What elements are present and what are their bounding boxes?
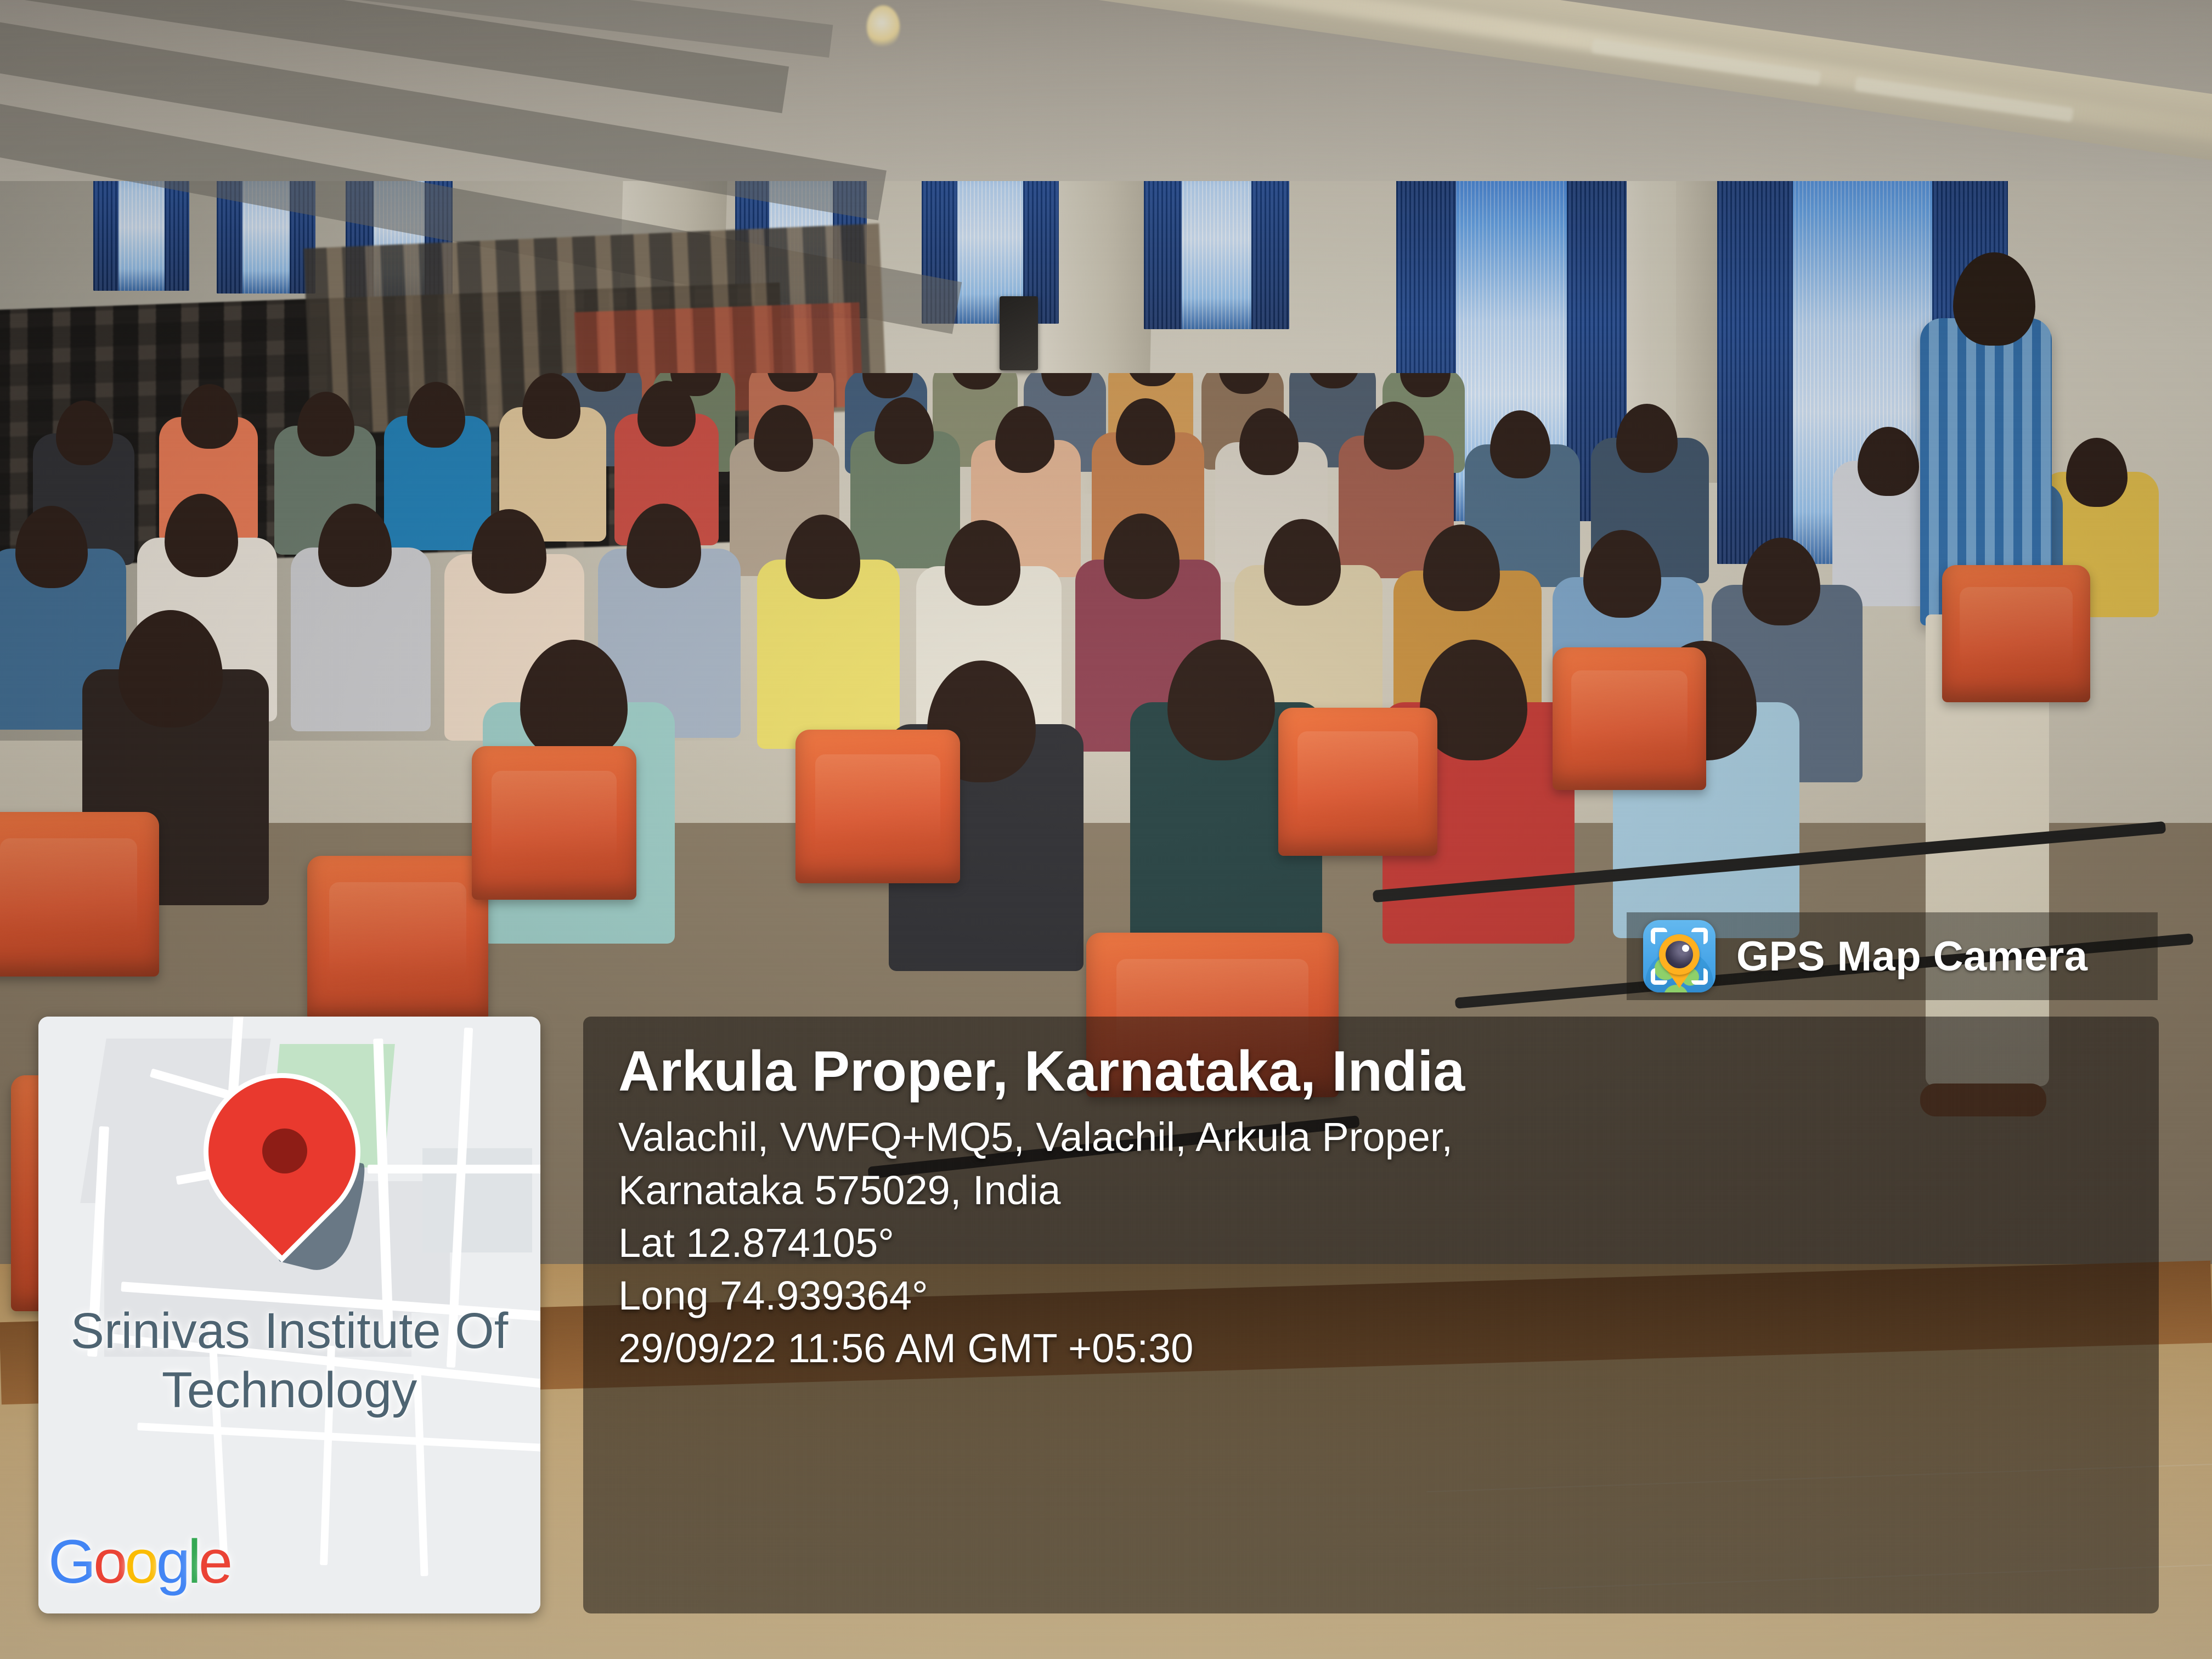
- orange-chair: [1278, 708, 1437, 856]
- gps-map-camera-app-icon: [1643, 920, 1716, 992]
- latitude-value: Lat 12.874105°: [618, 1217, 2159, 1269]
- orange-chair: [1553, 647, 1706, 790]
- location-info-panel: Arkula Proper, Karnataka, India Valachil…: [583, 1017, 2159, 1613]
- google-logo-o2: o: [125, 1527, 156, 1596]
- map-pin-marker: [203, 1078, 368, 1243]
- map-place-label: Srinivas Institute Of Technology: [38, 1302, 540, 1420]
- ceiling-bulb: [867, 5, 900, 48]
- gps-map-camera-watermark: GPS Map Camera: [1627, 912, 2158, 1000]
- place-title: Arkula Proper, Karnataka, India: [618, 1041, 2159, 1102]
- orange-chair: [307, 856, 488, 1020]
- google-logo: Google: [48, 1531, 230, 1593]
- google-logo-e: e: [199, 1527, 230, 1596]
- orange-chair: [1942, 565, 2090, 702]
- watermark-app-name: GPS Map Camera: [1736, 933, 2088, 980]
- orange-chair: [472, 746, 636, 900]
- attendee: [1742, 538, 1820, 625]
- map-water: [422, 1148, 532, 1252]
- address-line-1: Valachil, VWFQ+MQ5, Valachil, Arkula Pro…: [618, 1111, 2159, 1164]
- orange-chair: [0, 812, 159, 977]
- map-road: [368, 1165, 540, 1173]
- attendee: [181, 384, 238, 449]
- map-thumbnail-card[interactable]: Srinivas Institute Of Technology Google: [38, 1017, 540, 1613]
- google-logo-g1: G: [48, 1527, 93, 1596]
- google-logo-g2: g: [156, 1527, 188, 1596]
- gps-map-camera-photo: GPS Map Camera Arkula Proper, Karnataka,…: [0, 0, 2212, 1659]
- attendee: [407, 382, 465, 448]
- attendee: [297, 392, 354, 456]
- attendee: [1490, 410, 1550, 478]
- orange-chair: [795, 730, 960, 883]
- google-logo-o1: o: [93, 1527, 125, 1596]
- attendee: [2066, 438, 2128, 507]
- wall-speaker: [1000, 296, 1038, 370]
- attendee: [1858, 427, 1919, 496]
- longitude-value: Long 74.939364°: [618, 1269, 2159, 1322]
- google-logo-l: l: [188, 1527, 199, 1596]
- address-line-2: Karnataka 575029, India: [618, 1164, 2159, 1217]
- attendee: [1616, 404, 1678, 473]
- capture-timestamp: 29/09/22 11:56 AM GMT +05:30: [618, 1322, 2159, 1375]
- attendee: [56, 400, 113, 465]
